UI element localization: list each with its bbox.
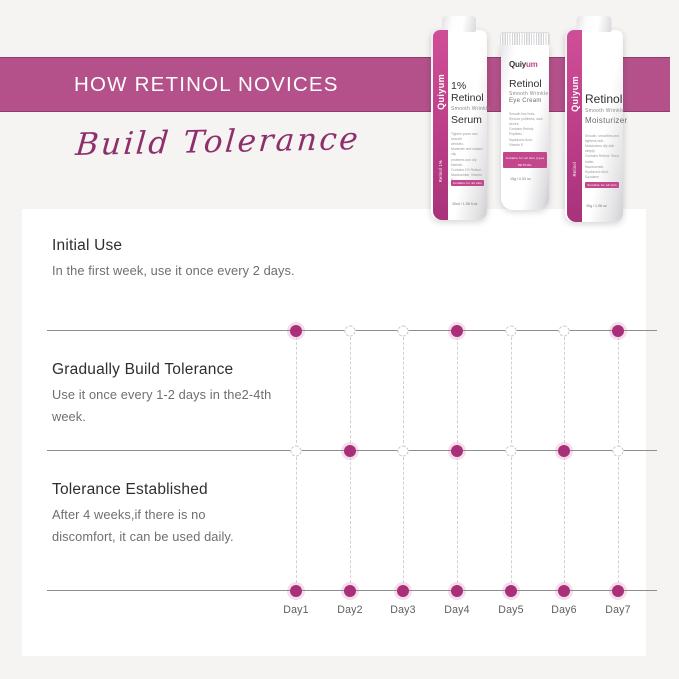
step-build-tolerance-desc: Use it once every 1-2 days in the2-4th w… <box>52 384 287 428</box>
timeline-dot-daily-use-row-day6[interactable] <box>558 585 570 597</box>
serum-body-copy: Tighten pores and smooth wrinkles. Moder… <box>451 132 483 183</box>
eye-cream-crimp <box>500 32 550 45</box>
timeline-connector-day1 <box>296 457 297 583</box>
timeline-connector-day4 <box>457 457 458 583</box>
content-card: Initial Use In the first week, use it on… <box>22 209 646 656</box>
timeline-dot-daily-use-row-day2[interactable] <box>344 585 356 597</box>
timeline-connector-day7 <box>618 457 619 583</box>
timeline-connector-day4 <box>457 337 458 443</box>
day-label-2: Day2 <box>337 604 363 616</box>
timeline-connector-day3 <box>403 457 404 583</box>
timeline-row-daily-use-row <box>47 590 657 592</box>
moisturizer-bottle: Quiyum Retinol Retinol Smooth Wrinkle Mo… <box>565 30 623 222</box>
serum-line1: 1% <box>451 80 466 92</box>
eye-cream-line4: Eye Cream <box>509 98 542 104</box>
step-tolerance-established: Tolerance Established After 4 weeks,if t… <box>52 481 352 548</box>
product-lineup-image: Quiyum Retinol 1% 1% Retinol Smooth Wrin… <box>425 8 640 223</box>
timeline-connector-day5 <box>511 337 512 443</box>
timeline-connector-day6 <box>564 337 565 443</box>
step-initial-use-desc: In the first week, use it once every 2 d… <box>52 260 297 282</box>
timeline-dot-build-tolerance-row-day7[interactable] <box>613 446 624 457</box>
step-build-tolerance-title: Gradually Build Tolerance <box>52 361 362 379</box>
eye-cream-tube: Quiyum Retinol Smooth Wrinkle Eye Cream … <box>501 44 549 210</box>
timeline-connector-day3 <box>403 337 404 443</box>
moisturizer-badge: Suitable for all skin types <box>585 182 619 188</box>
script-subtitle: Build Tolerance <box>74 121 362 163</box>
day-label-7: Day7 <box>605 604 631 616</box>
timeline-dot-daily-use-row-day4[interactable] <box>451 585 463 597</box>
timeline-row-build-tolerance-row <box>47 450 657 452</box>
timeline-connector-day7 <box>618 337 619 443</box>
eye-cream-brand: Quiyum <box>509 60 538 69</box>
timeline-dot-initial-use-row-day6[interactable] <box>559 326 570 337</box>
step-build-tolerance: Gradually Build Tolerance Use it once ev… <box>52 361 362 428</box>
serum-badge: Suitable for all skin types <box>451 180 484 186</box>
serum-line3: Smooth Wrinkle <box>451 106 490 112</box>
moisturizer-side-text: Retinol <box>572 162 577 176</box>
timeline-dot-initial-use-row-day1[interactable] <box>290 325 302 337</box>
day-label-4: Day4 <box>444 604 470 616</box>
day-label-1: Day1 <box>283 604 309 616</box>
moisturizer-line2: Retinol <box>585 92 622 106</box>
timeline-connector-day5 <box>511 457 512 583</box>
moisturizer-volume: 30g / 1.06 oz <box>586 204 607 210</box>
timeline-dot-build-tolerance-row-day5[interactable] <box>506 446 517 457</box>
timeline-dot-build-tolerance-row-day2[interactable] <box>344 445 356 457</box>
timeline-dot-build-tolerance-row-day1[interactable] <box>291 446 302 457</box>
eye-cream-badge: Suitable for all skin types RETINOL <box>503 152 547 168</box>
moisturizer-body-copy: Smooth, smoothes and tightens skin. Mois… <box>585 134 620 180</box>
eye-cream-line2: Retinol <box>509 78 542 90</box>
timeline-dot-build-tolerance-row-day4[interactable] <box>451 445 463 457</box>
eye-cream-line3: Smooth Wrinkle <box>509 91 548 97</box>
timeline-dot-initial-use-row-day3[interactable] <box>398 326 409 337</box>
timeline-dot-initial-use-row-day5[interactable] <box>506 326 517 337</box>
page-title: HOW RETINOL NOVICES <box>74 73 339 97</box>
serum-line2: Retinol <box>451 92 484 104</box>
eye-cream-volume: 15g / 0.53 oz <box>510 177 531 183</box>
serum-side-text: Retinol 1% <box>438 160 443 182</box>
timeline-connector-day6 <box>564 457 565 583</box>
day-label-6: Day6 <box>551 604 577 616</box>
timeline-dot-build-tolerance-row-day6[interactable] <box>558 445 570 457</box>
timeline-dot-daily-use-row-day7[interactable] <box>612 585 624 597</box>
moisturizer-line3: Smooth Wrinkle <box>585 108 624 114</box>
serum-bottle-stripe: Quiyum Retinol 1% <box>433 30 448 220</box>
timeline-dot-initial-use-row-day7[interactable] <box>612 325 624 337</box>
step-initial-use-title: Initial Use <box>52 237 352 255</box>
timeline-connector-day2 <box>350 337 351 443</box>
serum-brand-vertical: Quiyum <box>436 74 446 110</box>
moisturizer-line4: Moisturizer <box>585 116 627 125</box>
timeline-dot-daily-use-row-day1[interactable] <box>290 585 302 597</box>
timeline-connector-day1 <box>296 337 297 443</box>
moisturizer-bottle-stripe: Quiyum Retinol <box>567 30 582 222</box>
step-initial-use: Initial Use In the first week, use it on… <box>52 237 352 282</box>
eye-cream-body-copy: Smooth fine lines. Reduce puffiness, dar… <box>509 112 543 148</box>
serum-line4: Serum <box>451 114 482 126</box>
timeline-dot-daily-use-row-day3[interactable] <box>397 585 409 597</box>
timeline-dot-build-tolerance-row-day3[interactable] <box>398 446 409 457</box>
day-label-5: Day5 <box>498 604 524 616</box>
step-tolerance-established-desc: After 4 weeks,if there is no discomfort,… <box>52 504 252 548</box>
day-label-3: Day3 <box>390 604 416 616</box>
timeline-dot-initial-use-row-day4[interactable] <box>451 325 463 337</box>
infographic-page: HOW RETINOL NOVICES Build Tolerance Quiy… <box>0 0 679 679</box>
moisturizer-brand-vertical: Quiyum <box>570 76 580 112</box>
timeline-dot-daily-use-row-day5[interactable] <box>505 585 517 597</box>
serum-volume: 30ml / 1.06 fl.oz <box>452 202 477 208</box>
timeline-dot-initial-use-row-day2[interactable] <box>345 326 356 337</box>
timeline-row-initial-use-row <box>47 330 657 332</box>
timeline-connector-day2 <box>350 457 351 583</box>
step-tolerance-established-title: Tolerance Established <box>52 481 352 499</box>
serum-bottle: Quiyum Retinol 1% 1% Retinol Smooth Wrin… <box>431 30 487 220</box>
